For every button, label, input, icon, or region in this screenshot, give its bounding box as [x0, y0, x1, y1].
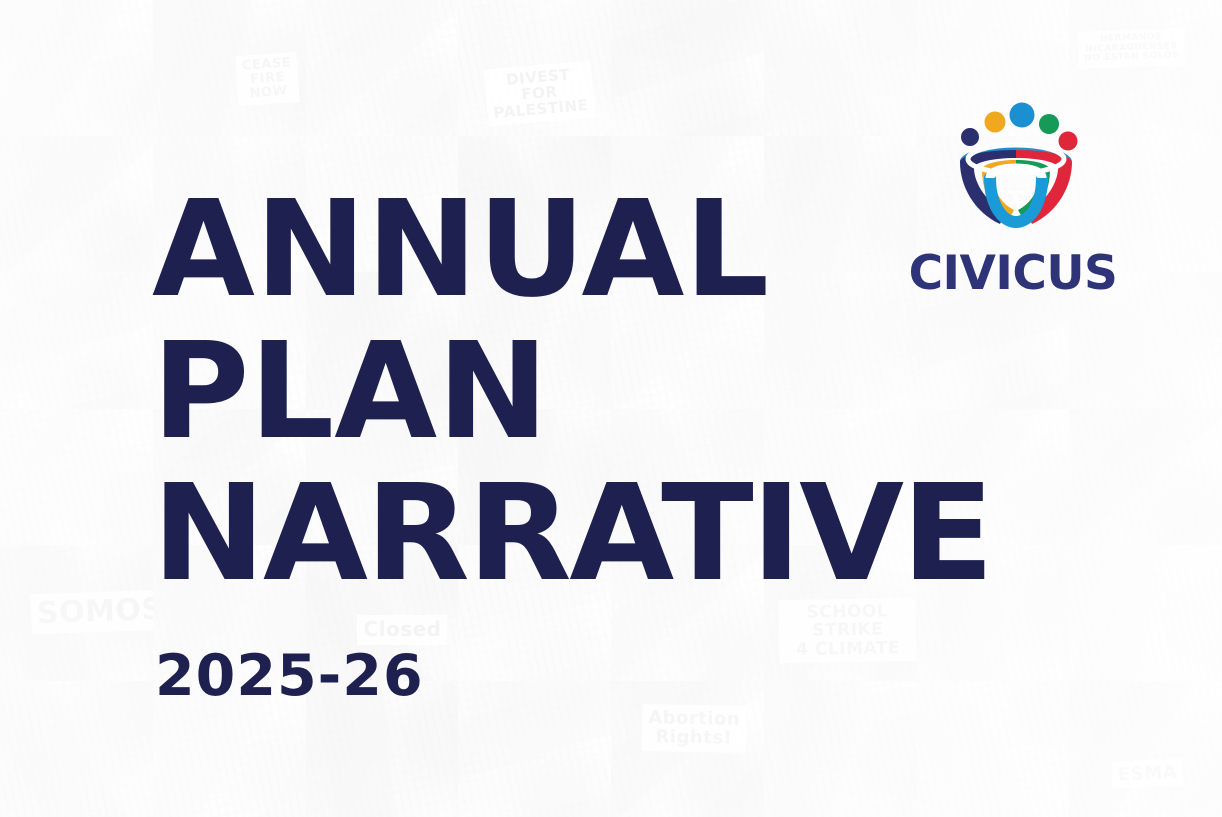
civicus-globe-icon — [946, 100, 1086, 250]
title-line-annual: ANNUAL — [152, 186, 1032, 315]
logo-center-arc — [990, 178, 1042, 222]
civicus-logo: CIVICUS — [908, 100, 1118, 295]
logo-dot-red — [1059, 132, 1078, 151]
annual-plan-cover: CEASE FIRE NOWDIVEST FOR PALESTINEHERMAN… — [0, 0, 1222, 817]
cover-content: ANNUAL PLAN NARRATIVE 2025-26 — [0, 0, 1222, 817]
title-line-narrative: NARRATIVE — [152, 470, 1050, 599]
logo-dot-blue — [1010, 103, 1035, 128]
page-title: ANNUAL PLAN NARRATIVE — [152, 186, 1032, 599]
year-range-label: 2025-26 — [155, 648, 424, 705]
logo-dot-navy — [961, 128, 979, 146]
title-line-plan: PLAN — [152, 328, 1032, 457]
civicus-wordmark: CIVICUS — [908, 250, 1118, 297]
logo-dot-green — [1039, 114, 1059, 134]
logo-dot-yellow — [985, 112, 1006, 133]
